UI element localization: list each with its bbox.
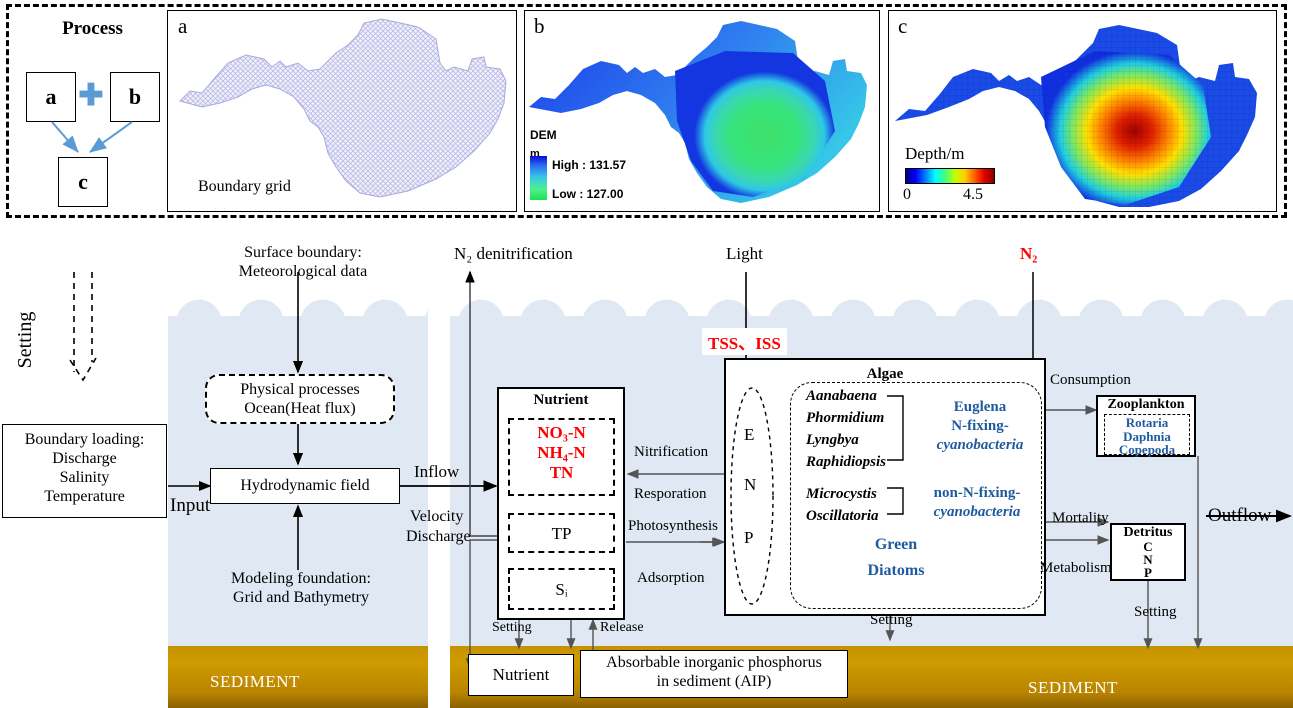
- aip-line1: Absorbable inorganic phosphorus: [581, 654, 847, 673]
- zooplankton-species-group: Rotaria Daphnia Copepoda: [1104, 414, 1190, 455]
- dem-low-label: Low : 127.00: [552, 187, 623, 201]
- physical-processes-line1: Physical processes: [207, 381, 393, 400]
- algae-setting-label: Setting: [870, 612, 913, 629]
- enp-n: N: [744, 475, 756, 495]
- nitrification-label: Nitrification: [634, 444, 708, 461]
- species-lyngbya: Lyngbya: [806, 432, 859, 449]
- process-box-b: b: [110, 72, 160, 122]
- hydrodynamic-field-box: Hydrodynamic field: [210, 468, 400, 504]
- inflow-label: Inflow: [414, 462, 459, 482]
- process-box-a: a: [26, 72, 76, 122]
- nonfixing-label-line2: cyanobacteria: [916, 503, 1038, 522]
- depth-min-label: 0: [903, 186, 911, 204]
- boundary-loading-title: Boundary loading:: [3, 431, 166, 450]
- panel-c-letter: c: [898, 14, 907, 39]
- modeling-foundation-label: Modeling foundation: Grid and Bathymetry: [196, 570, 406, 608]
- sediment-nutrient-box: Nutrient: [468, 654, 574, 696]
- n2-label: N₂: [1020, 244, 1037, 264]
- enp-p: P: [744, 528, 753, 548]
- enp-e: E: [744, 425, 754, 445]
- detritus-setting-label: Setting: [1134, 604, 1177, 621]
- nfixing-label: Euglena N-fixing- cyanobacteria: [920, 398, 1040, 454]
- nonfixing-label-line1: non-N-fixing-: [916, 484, 1038, 503]
- nutrient-title: Nutrient: [497, 392, 625, 409]
- species-oscillatoria: Oscillatoria: [806, 508, 879, 525]
- nfixing-label-line1: Euglena: [920, 398, 1040, 417]
- boundary-loading-item-0: Discharge: [3, 450, 166, 469]
- setting-label-left: Setting: [14, 290, 37, 390]
- enp-ellipse: [728, 384, 776, 608]
- boundary-loading-item-1: Salinity: [3, 469, 166, 488]
- green-label: Green: [836, 536, 956, 554]
- process-box-c: c: [58, 157, 108, 207]
- panel-b-svg: [525, 11, 880, 212]
- photosynthesis-label: Photosynthesis: [628, 518, 718, 535]
- physical-processes-line2: Ocean(Heat flux): [207, 400, 393, 419]
- n2-denitrification-label: N₂ denitrification: [454, 244, 573, 264]
- tss-iss-label: TSS、ISS: [702, 328, 787, 355]
- water-surface-waves-left: [168, 282, 428, 318]
- discharge-label: Discharge: [406, 528, 471, 547]
- nh4-n-label: NH₄-N: [510, 443, 613, 463]
- boundary-loading-box: Boundary loading: Discharge Salinity Tem…: [2, 424, 167, 518]
- nutrient-n-group: NO₃-N NH₄-N TN: [508, 418, 615, 496]
- panel-b-letter: b: [534, 14, 545, 39]
- modeling-foundation-line1: Modeling foundation:: [196, 570, 406, 589]
- dem-colorbar: [530, 156, 547, 200]
- surface-boundary-line1: Surface boundary:: [218, 244, 388, 263]
- dem-legend-title: DEM: [530, 128, 557, 142]
- tn-label: TN: [510, 463, 613, 483]
- aip-box: Absorbable inorganic phosphorus in sedim…: [580, 650, 848, 698]
- consumption-label: Consumption: [1050, 372, 1131, 389]
- nfixing-label-line2: N-fixing-: [920, 417, 1040, 436]
- panel-b-dem: [524, 10, 880, 212]
- zooplankton-title: Zooplankton: [1096, 397, 1196, 413]
- species-aanabaena: Aanabaena: [806, 388, 877, 405]
- boundary-loading-item-2: Temperature: [3, 488, 166, 507]
- nfixing-label-line3: cyanobacteria: [920, 436, 1040, 455]
- process-title: Process: [30, 18, 155, 40]
- zooplankton-daphnia: Daphnia: [1105, 430, 1189, 444]
- tp-box: TP: [508, 513, 615, 553]
- surface-boundary-label: Surface boundary: Meteorological data: [218, 244, 388, 282]
- no3-n-label: NO₃-N: [510, 423, 613, 443]
- modeling-foundation-line2: Grid and Bathymetry: [196, 589, 406, 608]
- nutrient-release-label: Release: [600, 620, 644, 636]
- nonfixing-label: non-N-fixing- cyanobacteria: [916, 484, 1038, 522]
- light-label: Light: [726, 244, 763, 264]
- si-box: Sᵢ: [508, 568, 615, 610]
- aip-line2: in sediment (AIP): [581, 673, 847, 692]
- species-phormidium: Phormidium: [806, 410, 884, 427]
- panel-a-letter: a: [178, 14, 187, 39]
- depth-colorbar: [905, 168, 995, 184]
- sediment-right: [450, 646, 1293, 708]
- zooplankton-copepoda: Copepoda: [1105, 443, 1189, 457]
- diatoms-label: Diatoms: [836, 562, 956, 580]
- resporation-label: Resporation: [634, 486, 707, 503]
- outflow-label: Outflow: [1208, 505, 1271, 527]
- panel-a-caption: Boundary grid: [198, 178, 291, 196]
- algae-title: Algae: [724, 366, 1046, 383]
- input-label: Input: [170, 495, 210, 517]
- sediment-label-right: SEDIMENT: [1028, 678, 1118, 698]
- adsorption-label: Adsorption: [637, 570, 705, 587]
- detritus-p: P: [1110, 566, 1186, 580]
- surface-boundary-line2: Meteorological data: [218, 263, 388, 282]
- physical-processes-box: Physical processes Ocean(Heat flux): [205, 374, 395, 424]
- sediment-label-left: SEDIMENT: [210, 672, 300, 692]
- dem-high-label: High : 131.57: [552, 158, 626, 172]
- water-surface-waves-right: [450, 282, 1293, 318]
- depth-legend-title: Depth/m: [905, 144, 965, 164]
- species-raphidiopsis: Raphidiopsis: [806, 454, 886, 471]
- zooplankton-rotaria: Rotaria: [1105, 416, 1189, 430]
- depth-max-label: 4.5: [963, 186, 983, 204]
- velocity-label: Velocity: [410, 508, 463, 527]
- nutrient-setting-label: Setting: [492, 620, 532, 636]
- mortality-label: Mortality: [1052, 510, 1109, 527]
- plus-icon: ✚: [76, 82, 106, 112]
- metabolism-label: Metabolism: [1040, 560, 1112, 577]
- species-microcystis: Microcystis: [806, 486, 877, 503]
